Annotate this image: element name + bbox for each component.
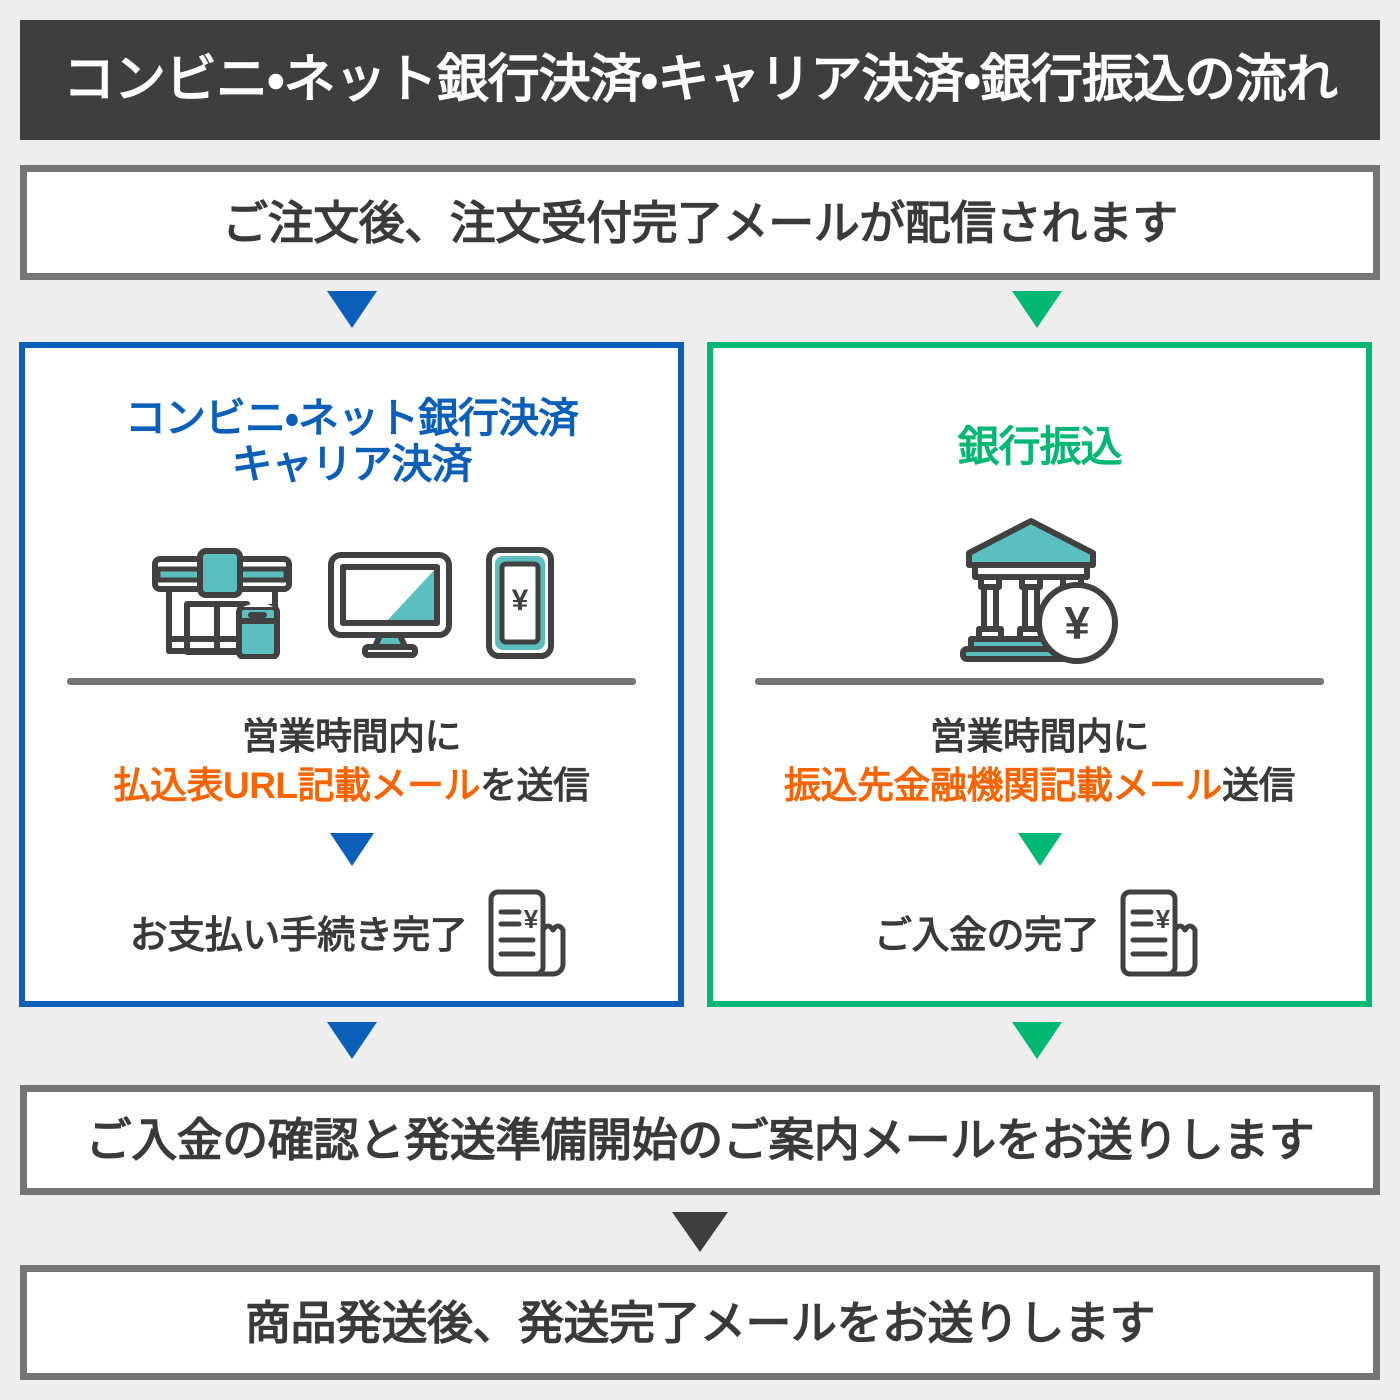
- panel-final-label-conveni: お支払い手続き完了: [130, 917, 468, 955]
- convenience-store-icon: [147, 547, 297, 659]
- step-order-received-label: ご注文後、注文受付完了メールが配信されます: [222, 200, 1178, 246]
- desktop-monitor-icon: [325, 547, 455, 659]
- panel-final-conveni: お支払い手続き完了 ¥: [25, 883, 678, 988]
- bank-building-yen-icon: ¥: [955, 515, 1125, 667]
- step-payment-confirmed: ご入金の確認と発送準備開始のご案内メールをお送りします: [20, 1085, 1380, 1195]
- svg-text:¥: ¥: [511, 584, 528, 617]
- page-title: コンビニ・ネット銀行決済・キャリア決済・銀行振込の流れ: [63, 54, 1337, 106]
- panel-note-bank: 営業時間内に 振込先金融機関記載メール送信: [713, 713, 1366, 811]
- step-payment-confirmed-label: ご入金の確認と発送準備開始のご案内メールをお送りします: [86, 1117, 1315, 1163]
- arrow-down-icon-bank-step: [1018, 833, 1062, 866]
- panel-note-suffix: を送信: [480, 765, 590, 806]
- panel-divider-bank: [755, 678, 1324, 685]
- panel-note-conveni: 営業時間内に 払込表URL記載メールを送信: [25, 713, 678, 811]
- page-title-bar: コンビニ・ネット銀行決済・キャリア決済・銀行振込の流れ: [20, 20, 1380, 140]
- icon-row-conveni: ¥: [25, 528, 678, 678]
- smartphone-yen-icon: ¥: [483, 544, 557, 662]
- panel-final-bank: ご入金の完了 ¥: [713, 883, 1366, 988]
- panel-note-highlight: 振込先金融機関記載メール: [784, 765, 1222, 806]
- panel-final-label-bank: ご入金の完了: [874, 917, 1099, 955]
- panel-note-line1: 営業時間内に: [25, 713, 678, 762]
- panel-note-highlight: 払込表URL記載メール: [113, 765, 480, 806]
- arrow-down-icon-to-bank: [1012, 291, 1062, 328]
- arrow-down-icon-bank-to-confirm: [1012, 1022, 1062, 1059]
- arrow-down-icon-to-shipped: [672, 1212, 728, 1252]
- panel-heading-bank: 銀行振込: [713, 423, 1366, 470]
- panel-heading-conveni: コンビニ・ネット銀行決済 キャリア決済: [25, 396, 678, 488]
- svg-text:¥: ¥: [1064, 597, 1090, 649]
- svg-text:¥: ¥: [1156, 904, 1171, 934]
- panel-divider-conveni: [67, 678, 636, 685]
- svg-text:¥: ¥: [524, 904, 539, 934]
- icon-row-bank: ¥: [713, 498, 1366, 683]
- step-shipped-label: 商品発送後、発送完了メールをお送りします: [245, 1300, 1155, 1346]
- step-shipped: 商品発送後、発送完了メールをお送りします: [20, 1265, 1380, 1380]
- payment-method-panel-conveni: コンビニ・ネット銀行決済 キャリア決済: [19, 342, 684, 1007]
- step-order-received: ご注文後、注文受付完了メールが配信されます: [20, 165, 1380, 280]
- invoice-yen-icon: ¥: [481, 886, 573, 986]
- arrow-down-icon-conveni-to-confirm: [327, 1022, 377, 1059]
- panel-note-line1: 営業時間内に: [713, 713, 1366, 762]
- panel-note-suffix: 送信: [1222, 765, 1295, 806]
- flow-diagram-page: コンビニ・ネット銀行決済・キャリア決済・銀行振込の流れ ご注文後、注文受付完了メ…: [0, 0, 1400, 1400]
- payment-method-panel-bank: 銀行振込: [707, 342, 1372, 1007]
- invoice-yen-icon: ¥: [1113, 886, 1205, 986]
- arrow-down-icon-conveni-step: [330, 833, 374, 866]
- arrow-down-icon-to-conveni: [327, 291, 377, 328]
